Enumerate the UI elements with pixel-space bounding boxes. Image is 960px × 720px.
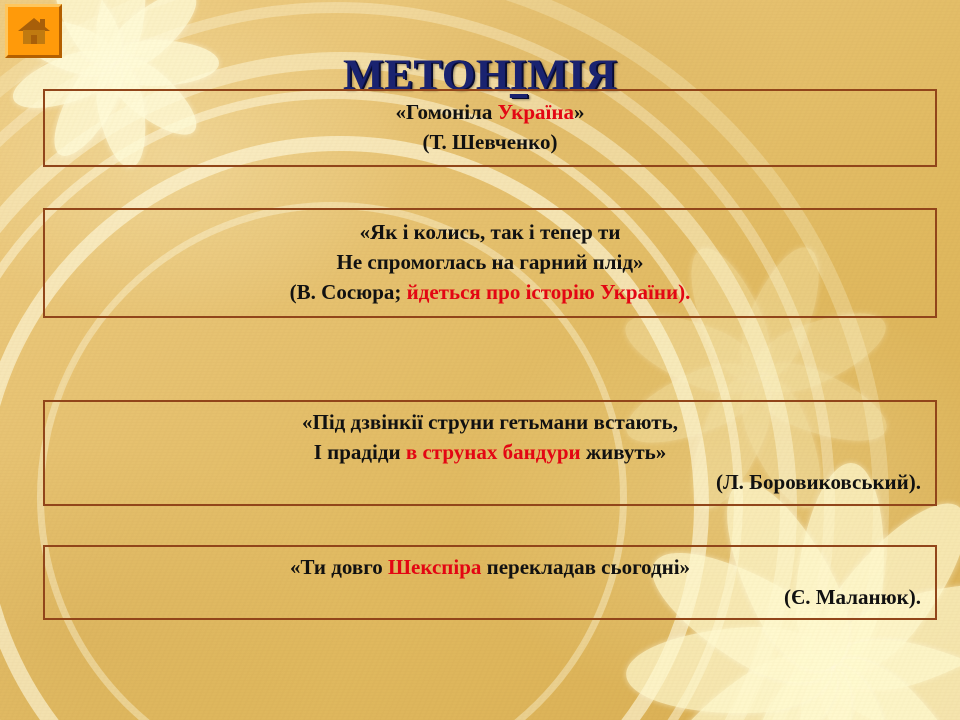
quote-line: (В. Сосюра; йдеться про історію України)…: [59, 278, 921, 308]
quote-text: перекладав сьогодні»: [481, 555, 690, 579]
quote-text: (В. Сосюра;: [290, 280, 407, 304]
quote-text: «Гомоніла: [395, 100, 497, 124]
highlighted-term: Україна: [498, 100, 574, 124]
quote-text: «Ти довго: [290, 555, 388, 579]
flower-petal: [820, 625, 960, 720]
quote-line: «Гомоніла Україна»: [59, 98, 921, 128]
quote-sosiura: «Як і колись, так і тепер тиНе спромогла…: [43, 208, 937, 318]
quote-text: «Як і колись, так і тепер ти: [360, 220, 621, 244]
highlighted-term: Шекспіра: [388, 555, 481, 579]
slide: МЕТОНІМІЯ «Гомоніла Україна»(Т. Шевченко…: [0, 0, 960, 720]
quote-line: «Під дзвінкії струни гетьмани встають,: [59, 408, 921, 438]
quote-text: І прадіди: [314, 440, 406, 464]
flower-petal: [638, 632, 855, 720]
quote-shevchenko: «Гомоніла Україна»(Т. Шевченко): [43, 89, 937, 167]
quote-text: »: [574, 100, 585, 124]
quote-text: живуть»: [581, 440, 667, 464]
quote-text: (Л. Боровиковський).: [716, 470, 921, 494]
flower-petal: [713, 651, 871, 720]
quote-line: «Як і колись, так і тепер ти: [59, 218, 921, 248]
highlighted-term: йдеться про історію України).: [407, 280, 691, 304]
quote-line: (Є. Маланюк).: [59, 583, 921, 613]
quote-line: «Ти довго Шекспіра перекладав сьогодні»: [59, 553, 921, 583]
quote-text: (Т. Шевченко): [423, 130, 558, 154]
flower-petal: [625, 624, 833, 718]
flower-petal: [800, 638, 960, 720]
quote-line: (Т. Шевченко): [59, 128, 921, 158]
quote-malaniuk: «Ти довго Шекспіра перекладав сьогодні»(…: [43, 545, 937, 620]
home-icon: [17, 15, 51, 47]
quote-line: (Л. Боровиковський).: [59, 468, 921, 498]
quote-text: Не спромоглась на гарний плід»: [336, 250, 643, 274]
quote-line: І прадіди в струнах бандури живуть»: [59, 438, 921, 468]
highlighted-term: в струнах бандури: [406, 440, 581, 464]
quote-text: «Під дзвінкії струни гетьмани встають,: [302, 410, 678, 434]
flower-petal: [789, 659, 910, 720]
quote-line: Не спромоглась на гарний плід»: [59, 248, 921, 278]
quote-borovykovskyi: «Під дзвінкії струни гетьмани встають,І …: [43, 400, 937, 506]
quote-text: (Є. Маланюк).: [784, 585, 921, 609]
